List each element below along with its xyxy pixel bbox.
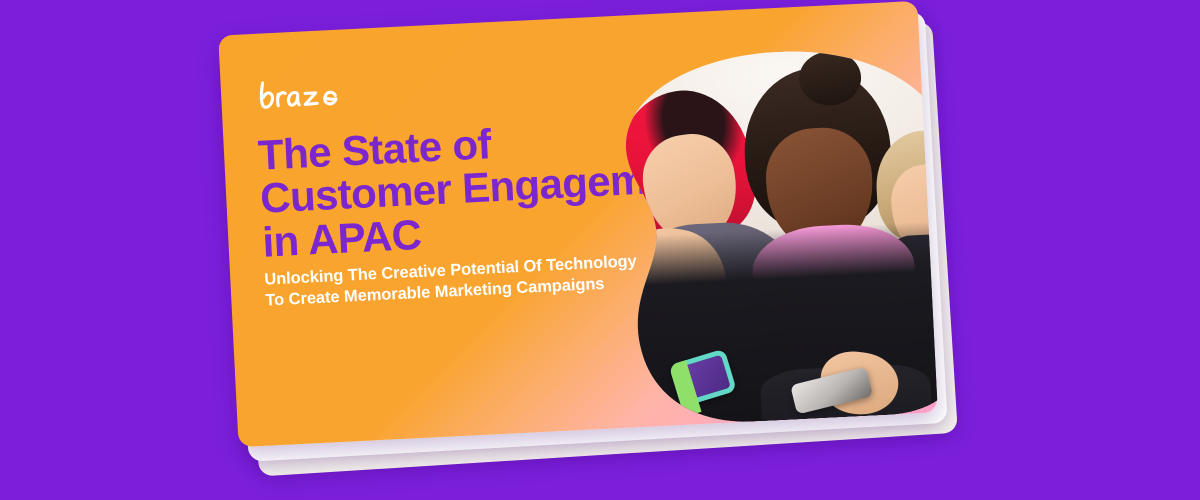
cover-artwork-stage: The State of Customer Engagement in APAC…: [0, 0, 1200, 500]
three-women-with-smartphones-photo: [618, 43, 938, 427]
braze-logo: [256, 76, 340, 114]
card-stack: The State of Customer Engagement in APAC…: [228, 18, 928, 430]
photo-composition: [618, 43, 938, 427]
ebook-cover-card[interactable]: The State of Customer Engagement in APAC…: [218, 1, 938, 447]
